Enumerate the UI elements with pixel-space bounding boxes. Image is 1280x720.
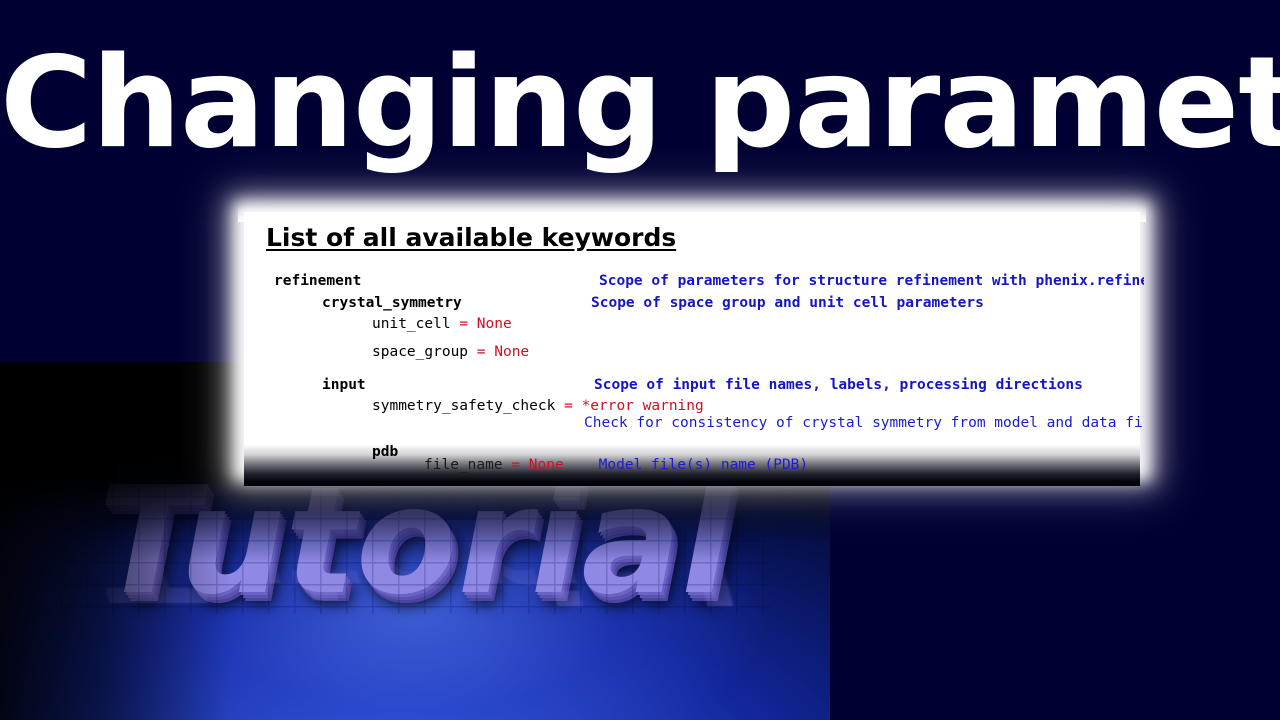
keyword-unit-cell-equals: =: [459, 316, 468, 332]
keyword-space-group-key: space_group: [372, 344, 468, 360]
keyword-crystal-symmetry: crystal_symmetry: [322, 294, 462, 312]
keyword-space-group-value: None: [494, 344, 529, 360]
keyword-space-group-equals: =: [477, 344, 486, 360]
keyword-symmetry-safety-check: symmetry_safety_check = *error warning: [372, 397, 704, 415]
keywords-panel-heading: List of all available keywords: [266, 223, 676, 253]
keyword-input-description: Scope of input file names, labels, proce…: [594, 376, 1083, 394]
keyword-refinement-description: Scope of parameters for structure refine…: [599, 272, 1144, 290]
keyword-crystal-symmetry-description: Scope of space group and unit cell param…: [591, 294, 984, 312]
keyword-symmetry-safety-check-key: symmetry_safety_check: [372, 398, 555, 414]
keyword-symmetry-safety-check-description: Check for consistency of crystal symmetr…: [584, 414, 1144, 432]
keywords-panel-content: List of all available keywords refinemen…: [244, 212, 1144, 486]
keyword-unit-cell-key: unit_cell: [372, 316, 451, 332]
keyword-file-name-description: Model file(s) name (PDB): [599, 457, 809, 473]
keyword-file-name: file_name = None Model file(s) name (PDB…: [424, 456, 808, 474]
keyword-space-group: space_group = None: [372, 343, 529, 361]
slide-root: Changing parameters Tutorial Tutorial Li…: [0, 0, 1280, 720]
keyword-unit-cell-value: None: [477, 316, 512, 332]
keyword-symmetry-safety-check-equals: =: [564, 398, 573, 414]
keyword-pdb: pdb: [372, 443, 398, 461]
keyword-refinement: refinement: [274, 272, 361, 290]
tutorial-left-shade: [0, 362, 230, 720]
keyword-file-name-equals: =: [511, 457, 520, 473]
keyword-input: input: [322, 376, 366, 394]
page-title: Changing parameters: [0, 28, 1280, 178]
keyword-file-name-key: file_name: [424, 457, 503, 473]
keyword-unit-cell: unit_cell = None: [372, 315, 512, 333]
keyword-file-name-value: None: [529, 457, 564, 473]
keyword-symmetry-safety-check-value: *error warning: [582, 398, 704, 414]
